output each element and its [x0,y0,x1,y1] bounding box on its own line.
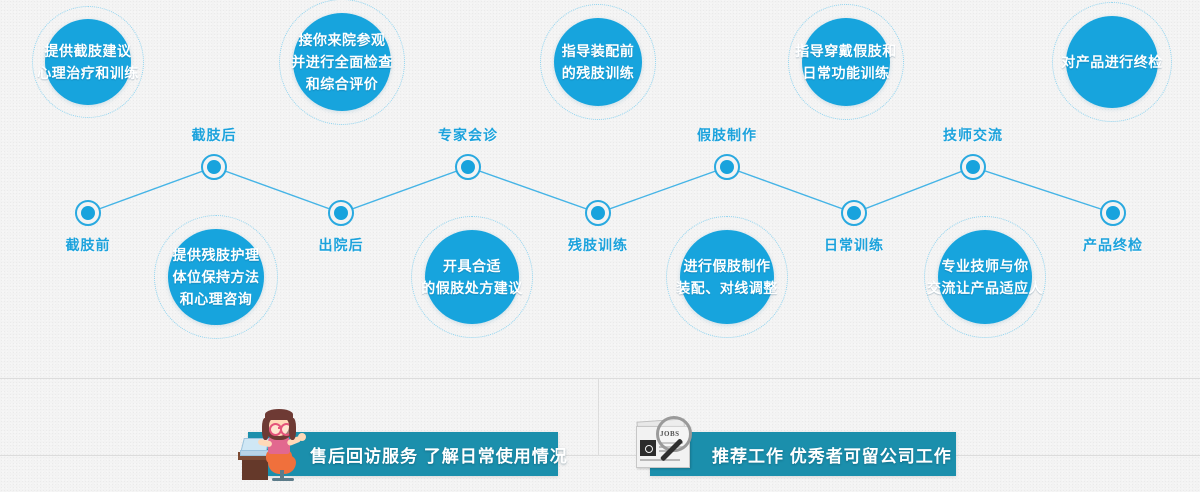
timeline-node-pre-amputation[interactable] [75,200,101,226]
bubble-label: 对产品进行终检 [1061,51,1163,73]
infographic-canvas: 提供截肢建议 心理治疗和训练提供残肢护理 体位保持方法 和心理咨询接你来院参观 … [0,0,1200,492]
bubble-label: 指导穿戴假肢和 日常功能训练 [795,40,897,84]
bubble-expert-consult[interactable]: 开具合适 的假肢处方建议 [411,216,533,338]
bubble-daily-training[interactable]: 指导穿戴假肢和 日常功能训练 [788,4,904,120]
section-divider-right [950,455,1200,456]
bubble-pre-amputation[interactable]: 提供截肢建议 心理治疗和训练 [32,6,144,118]
bubble-label: 指导装配前 的残肢训练 [562,40,635,84]
timeline-node-post-amputation[interactable] [201,154,227,180]
timeline-node-stump-training[interactable] [585,200,611,226]
timeline-node-label-post-amputation: 截肢后 [178,125,250,145]
bubble-label: 专业技师与你 交流让产品适应人 [927,255,1043,299]
timeline-node-label-post-discharge: 出院后 [305,235,377,255]
section-divider-left [0,455,258,456]
timeline-node-prosthesis-make[interactable] [714,154,740,180]
timeline-node-expert-consult[interactable] [455,154,481,180]
jobs-newspaper-magnifier-icon: JOBS [632,412,710,482]
timeline-node-technician-talk[interactable] [960,154,986,180]
bubble-label: 开具合适 的假肢处方建议 [421,255,523,299]
bubble-label: 提供截肢建议 心理治疗和训练 [37,40,139,84]
after-sales-banner-label: 售后回访服务 了解日常使用情况 [310,442,568,467]
bubble-final-check[interactable]: 对产品进行终检 [1052,2,1172,122]
bubble-label: 进行假肢制作 装配、对线调整 [676,255,778,299]
timeline-node-final-check[interactable] [1100,200,1126,226]
bubble-post-discharge[interactable]: 提供残肢护理 体位保持方法 和心理咨询 [154,215,278,339]
bubble-technician-talk[interactable]: 专业技师与你 交流让产品适应人 [924,216,1046,338]
timeline-node-label-final-check: 产品终检 [1077,235,1149,255]
bubble-prosthesis-make[interactable]: 进行假肢制作 装配、对线调整 [666,216,788,338]
timeline-node-label-technician-talk: 技师交流 [937,125,1009,145]
timeline-node-post-discharge[interactable] [328,200,354,226]
timeline-node-label-stump-training: 残肢训练 [562,235,634,255]
bubble-label: 接你来院参观 并进行全面检查 和综合评价 [291,29,393,95]
job-referral-banner-label: 推荐工作 优秀者可留公司工作 [712,442,952,467]
section-divider-top [0,378,1200,379]
section-divider-vertical [598,378,599,456]
bubble-label: 提供残肢护理 体位保持方法 和心理咨询 [173,244,260,310]
bubble-post-amputation[interactable]: 接你来院参观 并进行全面检查 和综合评价 [279,0,405,125]
timeline-node-label-pre-amputation: 截肢前 [52,235,124,255]
bubble-stump-training[interactable]: 指导装配前 的残肢训练 [540,4,656,120]
timeline-node-label-expert-consult: 专家会诊 [432,125,504,145]
timeline-node-label-prosthesis-make: 假肢制作 [691,125,763,145]
woman-at-desk-icon [234,408,314,482]
timeline-node-label-daily-training: 日常训练 [818,235,890,255]
timeline-node-daily-training[interactable] [841,200,867,226]
